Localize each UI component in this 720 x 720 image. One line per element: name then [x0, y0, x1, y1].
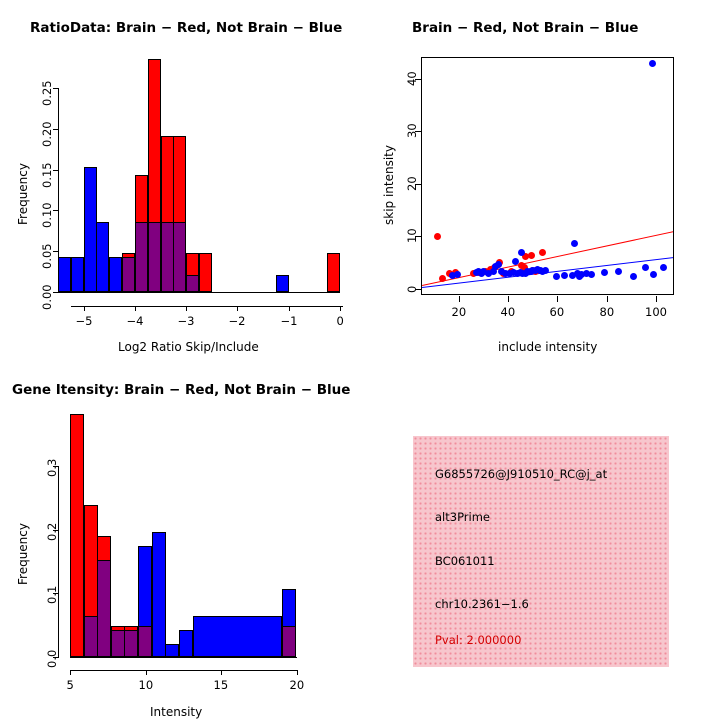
ratio-bar-brain-cap — [148, 59, 161, 223]
accession-label: BC061011 — [435, 554, 495, 568]
ratio-x-tick — [84, 306, 85, 311]
ratio-bar-brain-cap — [173, 136, 186, 223]
gene-y-tick-label: 0.2 — [45, 523, 59, 541]
pval-label: Pval: 2.000000 — [435, 633, 521, 647]
ratio-x-tick — [237, 306, 238, 311]
ratio-bar-not-brain — [71, 257, 84, 292]
scatter-x-tick — [508, 296, 509, 302]
ratio-bar-overlap — [135, 222, 148, 292]
scatter-x-tick-label: 100 — [645, 305, 667, 319]
ratio-x-tick-label: −1 — [281, 314, 298, 328]
gene-bar-brain-cap — [84, 505, 98, 617]
ratio-x-tick — [340, 306, 341, 311]
scatter-point — [571, 240, 578, 247]
gene-bar-overlap — [111, 630, 125, 657]
scatter-point — [642, 264, 649, 271]
gene-x-tick — [146, 670, 147, 675]
ratio-x-tick-label: −5 — [76, 314, 93, 328]
scatter-point — [553, 273, 560, 280]
ratio-x-tick-label: −3 — [178, 314, 195, 328]
ratio-y-tick-label: 0.15 — [40, 162, 54, 188]
intensity-scatter-panel: Brain − Red, Not Brain − Blue skip inten… — [360, 0, 720, 360]
scatter-point — [542, 267, 549, 274]
gene-bar-brain-cap — [124, 626, 138, 631]
gene-bar-overlap — [282, 626, 296, 657]
gene-intensity-histogram-panel: Gene Itensity: Brain − Red, Not Brain − … — [0, 360, 360, 720]
ratio-x-tick-label: 0 — [337, 314, 344, 328]
ratio-x-axis-line — [71, 306, 343, 307]
scatter-point — [588, 271, 595, 278]
scatter-point — [512, 258, 519, 265]
probe-id-label: G6855726@J910510_RC@j_at — [435, 467, 607, 481]
scatter-point — [630, 273, 637, 280]
gene-y-tick-label: 0.1 — [45, 586, 59, 604]
ratio-bar-brain-cap — [135, 175, 148, 223]
gene-y-tick-label: 0.3 — [45, 459, 59, 477]
gene-bar-brain-cap — [111, 626, 125, 631]
scatter-x-tick-label: 20 — [452, 305, 467, 319]
intensity-scatter-plot-area: 01020304020406080100 — [360, 0, 720, 360]
scatter-point — [434, 233, 441, 240]
locus-label: chr10.2361−1.6 — [435, 597, 529, 611]
ratio-x-tick — [289, 306, 290, 311]
gene-bar-not-brain — [152, 532, 166, 657]
ratio-bar-brain — [199, 253, 212, 292]
scatter-point — [660, 264, 667, 271]
scatter-y-tick-label: 0 — [405, 285, 419, 292]
gene-bar-not-brain — [193, 616, 282, 657]
ratio-y-tick-label: 0.00 — [40, 284, 54, 310]
scatter-point — [528, 252, 535, 259]
ratio-y-tick-label: 0.05 — [40, 243, 54, 269]
gene-x-axis-line — [70, 670, 297, 671]
ratio-bar-not-brain — [96, 222, 109, 292]
gene-bar-not-brain-cap — [282, 589, 296, 627]
gene-bar-overlap — [138, 626, 152, 657]
ratio-baseline — [58, 292, 340, 293]
scatter-point — [454, 271, 461, 278]
ratio-histogram-panel: RatioData: Brain − Red, Not Brain − Blue… — [0, 0, 360, 360]
ratio-bar-not-brain — [58, 257, 71, 292]
gene-x-tick-label: 10 — [139, 678, 154, 692]
gene-bar-brain — [70, 414, 84, 657]
ratio-x-tick — [135, 306, 136, 311]
ratio-x-tick-label: −4 — [127, 314, 144, 328]
scatter-y-tick-label: 20 — [405, 177, 419, 192]
ratio-bar-brain — [327, 253, 340, 292]
gene-x-tick — [297, 670, 298, 675]
scatter-y-tick-label: 10 — [405, 229, 419, 244]
scatter-y-tick-label: 40 — [405, 72, 419, 87]
ratio-x-tick — [186, 306, 187, 311]
scatter-point — [601, 269, 608, 276]
scatter-x-tick — [607, 296, 608, 302]
scatter-x-tick-label: 40 — [501, 305, 516, 319]
scatter-point — [539, 249, 546, 256]
event-type-label: alt3Prime — [435, 510, 490, 524]
scatter-clip — [422, 58, 673, 294]
gene-bar-not-brain-cap — [138, 546, 152, 627]
ratio-y-tick-label: 0.20 — [40, 121, 54, 147]
gene-bar-not-brain — [165, 644, 179, 657]
gene-x-tick-label: 5 — [67, 678, 74, 692]
ratio-y-tick-label: 0.10 — [40, 202, 54, 228]
scatter-x-tick — [459, 296, 460, 302]
scatter-y-tick-label: 30 — [405, 124, 419, 139]
scatter-x-tick-label: 80 — [600, 305, 615, 319]
ratio-bar-overlap — [148, 222, 161, 292]
scatter-point — [650, 271, 657, 278]
gene-bar-overlap — [124, 630, 138, 657]
gene-x-tick-label: 20 — [290, 678, 305, 692]
ratio-x-tick-label: −2 — [229, 314, 246, 328]
ratio-bar-not-brain — [109, 257, 122, 292]
scatter-point — [561, 272, 568, 279]
scatter-x-tick — [656, 296, 657, 302]
ratio-bar-brain-cap — [122, 253, 135, 258]
ratio-histogram-plot-area: 0.000.050.100.150.200.25−5−4−3−2−10 — [0, 0, 360, 360]
gene-intensity-plot-area: 0.00.10.20.35101520 — [0, 360, 360, 720]
ratio-bar-brain-cap — [186, 253, 199, 276]
gene-bar-not-brain — [179, 630, 193, 657]
gene-bar-brain-cap — [97, 536, 111, 561]
gene-y-axis-line — [58, 466, 59, 658]
gene-bar-overlap — [84, 616, 98, 657]
gene-info-panel: G6855726@J910510_RC@j_at alt3Prime BC061… — [413, 436, 669, 667]
scatter-point — [518, 249, 525, 256]
gene-x-tick-label: 15 — [214, 678, 229, 692]
scatter-x-tick-label: 60 — [550, 305, 565, 319]
ratio-bar-overlap — [186, 275, 199, 292]
gene-baseline — [70, 657, 297, 658]
scatter-point — [615, 268, 622, 275]
gene-y-tick-label: 0.0 — [45, 650, 59, 668]
scatter-x-tick — [557, 296, 558, 302]
gene-bar-overlap — [97, 560, 111, 657]
ratio-y-tick-label: 0.25 — [40, 80, 54, 106]
gene-x-tick — [221, 670, 222, 675]
ratio-bar-not-brain — [276, 275, 289, 292]
scatter-point — [649, 60, 656, 67]
gene-x-tick — [70, 670, 71, 675]
ratio-bar-overlap — [173, 222, 186, 292]
ratio-bar-overlap — [122, 257, 135, 292]
